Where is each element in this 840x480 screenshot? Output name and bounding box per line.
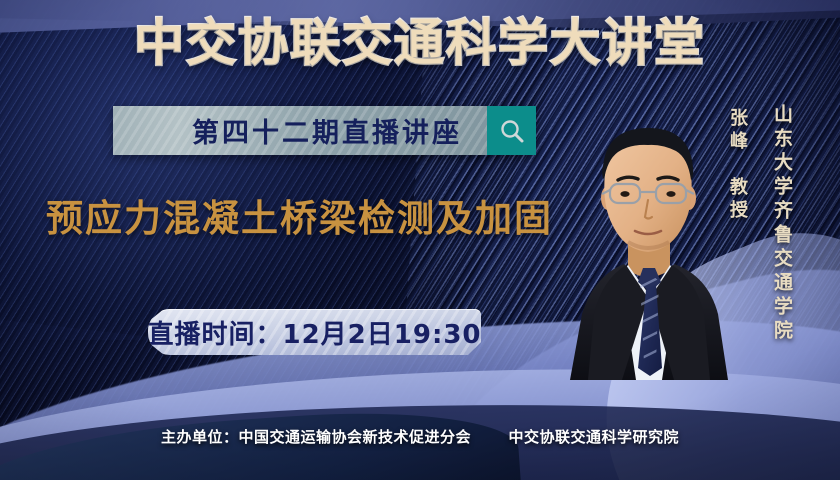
speaker-portrait (558, 118, 738, 380)
search-icon (498, 117, 526, 145)
broadcast-time-badge: 直播时间：12月2日19:30 (148, 309, 481, 355)
footer-organizers: 主办单位：中国交通运输协会新技术促进分会 中交协联交通科学研究院 (0, 426, 840, 447)
page-title: 中交协联交通科学大讲堂 (0, 14, 840, 72)
episode-banner-body: 第四十二期直播讲座 (113, 106, 487, 155)
poster-canvas: 中交协联交通科学大讲堂 第四十二期直播讲座 预应力混凝土桥梁检测及加固 直播时间… (0, 0, 840, 480)
footer-co-organizer: 中交协联交通科学研究院 (508, 428, 679, 446)
speaker-affiliation: 山东大学齐鲁交通学院 (769, 104, 796, 344)
lecture-topic: 预应力混凝土桥梁检测及加固 (46, 188, 553, 242)
episode-banner: 第四十二期直播讲座 (113, 106, 536, 155)
footer-organizer: 主办单位：中国交通运输协会新技术促进分会 (161, 428, 471, 446)
broadcast-time-text: 直播时间：12月2日19:30 (148, 314, 481, 351)
speaker-name: 张峰 教授 (724, 108, 750, 223)
search-button[interactable] (487, 106, 536, 155)
episode-label: 第四十二期直播讲座 (138, 111, 462, 150)
